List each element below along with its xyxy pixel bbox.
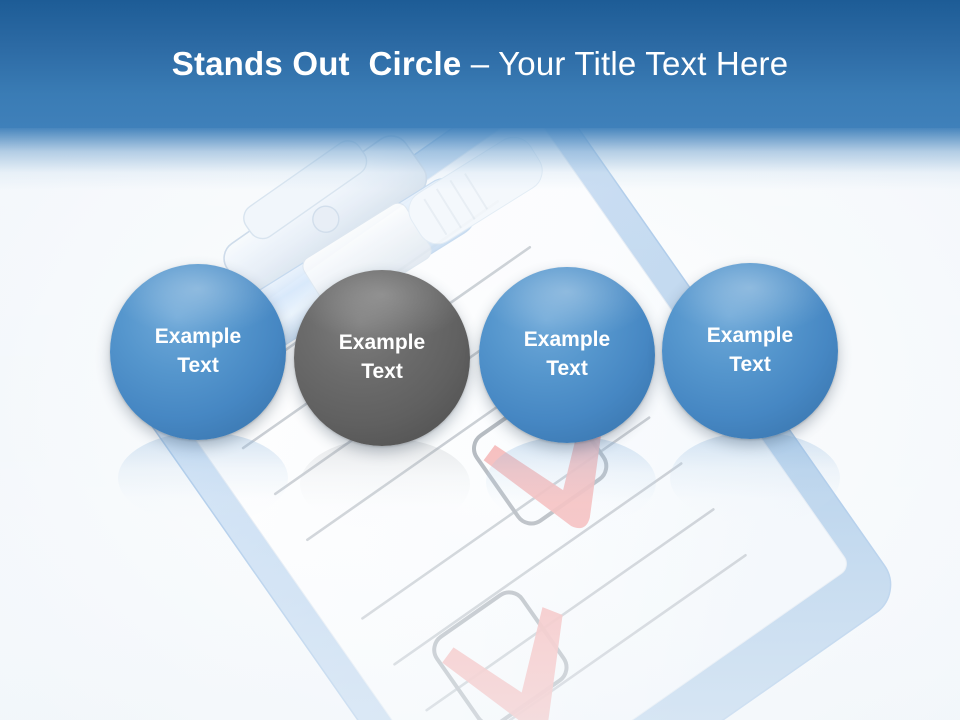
diagram-circle-2-label-line1: Example: [339, 329, 425, 358]
diagram-circle-1-label-line1: Example: [155, 323, 241, 352]
diagram-circle-3[interactable]: Example Text: [479, 267, 655, 443]
page-title-regular: – Your Title Text Here: [461, 45, 788, 83]
diagram-circle-2[interactable]: Example Text: [294, 270, 470, 446]
diagram-circle-1-label-line2: Text: [177, 352, 219, 381]
slide-canvas: Stands Out Circle – Your Title Text Here…: [0, 0, 960, 720]
diagram-circle-3-label-line1: Example: [524, 326, 610, 355]
diagram-circle-4-label-line1: Example: [707, 322, 793, 351]
diagram-circle-2-label-line2: Text: [361, 358, 403, 387]
diagram-circle-4-label-line2: Text: [729, 351, 771, 380]
diagram-circle-1[interactable]: Example Text: [110, 264, 286, 440]
diagram-circle-4[interactable]: Example Text: [662, 263, 838, 439]
diagram-circle-3-label-line2: Text: [546, 355, 588, 384]
page-title-bold: Stands Out Circle: [172, 45, 462, 83]
page-title: Stands Out Circle – Your Title Text Here: [0, 0, 960, 128]
